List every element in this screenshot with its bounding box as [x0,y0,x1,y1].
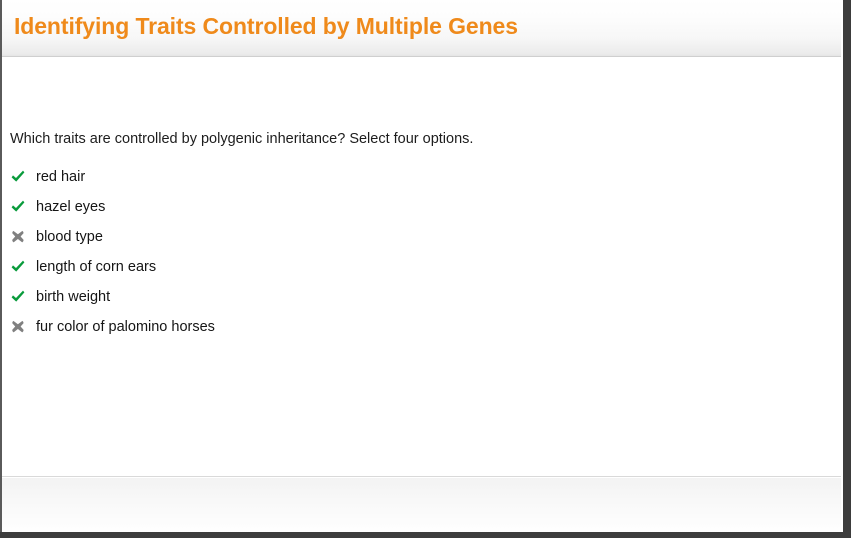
check-icon [10,257,30,277]
list-item-label: birth weight [36,288,110,306]
list-item-label: fur color of palomino horses [36,318,215,336]
main-content: Which traits are controlled by polygenic… [2,57,841,477]
page-title: Identifying Traits Controlled by Multipl… [14,12,518,40]
check-icon [10,197,30,217]
list-item-label: red hair [36,168,85,186]
cross-icon [10,227,30,247]
list-item[interactable]: fur color of palomino horses [10,312,710,342]
check-icon [10,167,30,187]
cross-icon [10,317,30,337]
option-list: red hair hazel eyes [10,162,710,342]
list-item[interactable]: hazel eyes [10,192,710,222]
list-item[interactable]: blood type [10,222,710,252]
list-item[interactable]: birth weight [10,282,710,312]
window-bottom-edge [0,532,851,538]
page-header: Identifying Traits Controlled by Multipl… [2,0,841,57]
list-item[interactable]: length of corn ears [10,252,710,282]
list-item[interactable]: red hair [10,162,710,192]
page-footer [2,477,841,532]
page-content: Identifying Traits Controlled by Multipl… [2,0,841,532]
check-icon [10,287,30,307]
list-item-label: hazel eyes [36,198,105,216]
list-item-label: blood type [36,228,103,246]
browser-window: Identifying Traits Controlled by Multipl… [0,0,851,538]
list-item-label: length of corn ears [36,258,156,276]
question-prompt: Which traits are controlled by polygenic… [10,130,473,148]
window-left-edge [0,0,2,538]
window-right-edge [843,0,851,538]
